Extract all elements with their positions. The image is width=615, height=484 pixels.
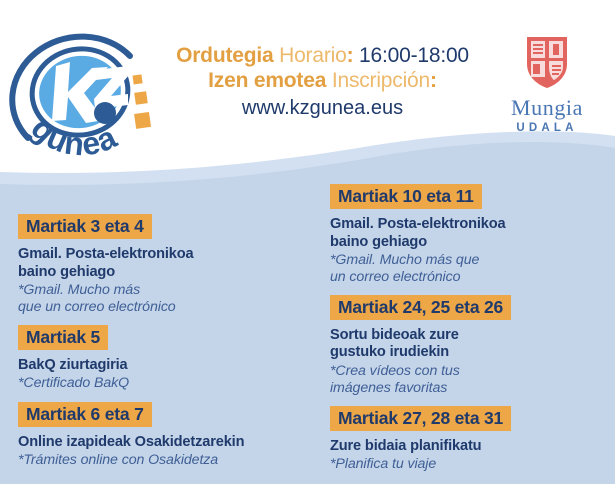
course-title-es: *Gmail. Mucho más que un correo electrón… [330, 252, 610, 286]
course-list: Martiak 3 eta 4 Gmail. Posta-elektroniko… [0, 0, 615, 484]
course-title-eu: BakQ ziurtagiria [18, 357, 318, 374]
course-title-eu-line: baino gehiago [18, 264, 318, 281]
course-entry: Martiak 5 BakQ ziurtagiria *Certificado … [18, 325, 318, 393]
course-entry: Martiak 27, 28 eta 31 Zure bidaia planif… [330, 406, 610, 474]
course-title-eu-line: BakQ ziurtagiria [18, 357, 318, 374]
course-title-eu-line: baino gehiago [330, 234, 610, 251]
course-title-es-line: *Certificado BakQ [18, 375, 318, 392]
course-title-es-line: *Crea vídeos con tus [330, 363, 610, 380]
course-title-es: *Planifica tu viaje [330, 456, 610, 473]
course-entry: Martiak 3 eta 4 Gmail. Posta-elektroniko… [18, 214, 318, 316]
course-title-es-line: un correo electrónico [330, 269, 610, 286]
course-title-eu: Gmail. Posta-elektronikoa baino gehiago [18, 246, 318, 280]
course-title-eu-line: Zure bidaia planifikatu [330, 438, 610, 455]
course-title-es-line: imágenes favoritas [330, 380, 610, 397]
poster-canvas: gunea Ordutegia Horario: 16:00-18:00 Ize… [0, 0, 615, 484]
course-column-right: Martiak 10 eta 11 Gmail. Posta-elektroni… [330, 184, 610, 482]
course-title-es: *Certificado BakQ [18, 375, 318, 392]
course-title-eu: Gmail. Posta-elektronikoa baino gehiago [330, 216, 610, 250]
course-date-badge: Martiak 27, 28 eta 31 [330, 406, 511, 431]
course-title-eu-line: Online izapideak Osakidetzarekin [18, 434, 318, 451]
course-title-es-line: *Planifica tu viaje [330, 456, 610, 473]
course-entry: Martiak 10 eta 11 Gmail. Posta-elektroni… [330, 184, 610, 286]
course-title-eu: Online izapideak Osakidetzarekin [18, 434, 318, 451]
course-entry: Martiak 24, 25 eta 26 Sortu bideoak zure… [330, 295, 610, 397]
course-date-badge: Martiak 5 [18, 325, 108, 350]
course-title-es: *Trámites online con Osakidetza [18, 452, 318, 469]
course-title-eu-line: Gmail. Posta-elektronikoa [18, 246, 318, 263]
course-title-eu: Zure bidaia planifikatu [330, 438, 610, 455]
course-date-badge: Martiak 10 eta 11 [330, 184, 482, 209]
course-date-badge: Martiak 24, 25 eta 26 [330, 295, 511, 320]
course-title-eu-line: Sortu bideoak zure [330, 327, 610, 344]
course-title-es-line: *Gmail. Mucho más que [330, 252, 610, 269]
course-title-eu-line: Gmail. Posta-elektronikoa [330, 216, 610, 233]
course-title-es: *Gmail. Mucho más que un correo electrón… [18, 282, 318, 316]
course-entry: Martiak 6 eta 7 Online izapideak Osakide… [18, 402, 318, 470]
course-title-eu-line: gustuko irudiekin [330, 344, 610, 361]
course-date-badge: Martiak 3 eta 4 [18, 214, 152, 239]
course-title-eu: Sortu bideoak zure gustuko irudiekin [330, 327, 610, 361]
course-date-badge: Martiak 6 eta 7 [18, 402, 152, 427]
course-column-left: Martiak 3 eta 4 Gmail. Posta-elektroniko… [18, 214, 318, 478]
course-title-es-line: que un correo electrónico [18, 299, 318, 316]
course-title-es-line: *Trámites online con Osakidetza [18, 452, 318, 469]
course-title-es: *Crea vídeos con tus imágenes favoritas [330, 363, 610, 397]
course-title-es-line: *Gmail. Mucho más [18, 282, 318, 299]
